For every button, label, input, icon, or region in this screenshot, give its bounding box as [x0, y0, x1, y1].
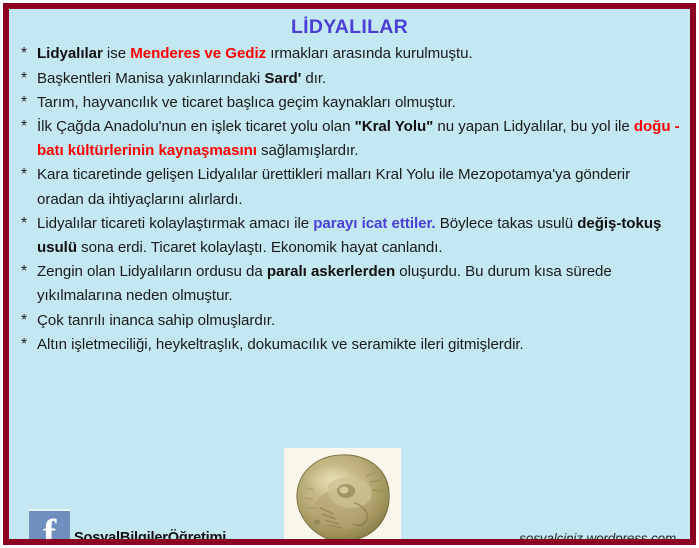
- list-item-text: Zengin olan Lidyalıların ordusu da: [37, 263, 267, 280]
- poster-inner: LİDYALILAR *Lidyalılar ise Menderes ve G…: [9, 17, 690, 545]
- lydian-coin-svg: [284, 448, 401, 545]
- list-item-text: sağlamışlardır.: [257, 142, 359, 159]
- bullet-marker-icon: *: [21, 67, 27, 91]
- site-watermark: sosyalciniz.wordpress.com: [519, 531, 676, 545]
- bullet-marker-icon: *: [21, 42, 27, 66]
- list-item-text: Altın işletmeciliği, heykeltraşlık, doku…: [37, 336, 524, 353]
- list-item-text: Kara ticaretinde gelişen Lidyalılar üret…: [37, 166, 630, 207]
- list-item-text: Lidyalılar: [37, 45, 103, 62]
- list-item-text: İlk Çağda Anadolu'nun en işlek ticaret y…: [37, 118, 355, 135]
- lydian-coin-image: [284, 448, 401, 545]
- list-item-text: ırmakları arasında kurulmuştu.: [266, 45, 472, 62]
- list-item: *Tarım, hayvancılık ve ticaret başlıca g…: [21, 91, 680, 115]
- list-item: *Kara ticaretinde gelişen Lidyalılar üre…: [21, 163, 680, 211]
- list-item-text: Başkentleri Manisa yakınlarındaki: [37, 70, 264, 87]
- list-item: *Başkentleri Manisa yakınlarındaki Sard'…: [21, 67, 680, 91]
- page-title: LİDYALILAR: [9, 17, 690, 38]
- list-item-text: Çok tanrılı inanca sahip olmuşlardır.: [37, 312, 275, 329]
- facebook-f-glyph: f: [29, 511, 70, 545]
- list-item-text: nu yapan Lidyalılar, bu yol ile: [433, 118, 634, 135]
- list-item: *Lidyalılar ticareti kolaylaştırmak amac…: [21, 212, 680, 260]
- list-item-text: "Kral Yolu": [355, 118, 434, 135]
- bullet-marker-icon: *: [21, 115, 27, 139]
- list-item-text: sona erdi. Ticaret kolaylaştı. Ekonomik …: [77, 239, 443, 256]
- list-item-text: ise: [103, 45, 130, 62]
- facebook-icon[interactable]: f: [29, 509, 70, 545]
- list-item-text: Tarım, hayvancılık ve ticaret başlıca ge…: [37, 94, 456, 111]
- bullet-marker-icon: *: [21, 333, 27, 357]
- bullet-marker-icon: *: [21, 309, 27, 333]
- list-item-text: Menderes ve Gediz: [130, 45, 266, 62]
- bullet-marker-icon: *: [21, 91, 27, 115]
- list-item-text: Böylece takas usulü: [436, 215, 578, 232]
- list-item: *Zengin olan Lidyalıların ordusu da para…: [21, 260, 680, 308]
- bullet-marker-icon: *: [21, 212, 27, 236]
- bullet-marker-icon: *: [21, 163, 27, 187]
- list-item-text: parayı icat ettiler.: [313, 215, 435, 232]
- poster-card: LİDYALILAR *Lidyalılar ise Menderes ve G…: [3, 3, 696, 545]
- list-item-text: Sard': [264, 70, 301, 87]
- bullet-list: *Lidyalılar ise Menderes ve Gediz ırmakl…: [9, 42, 690, 357]
- list-item: *Çok tanrılı inanca sahip olmuşlardır.: [21, 309, 680, 333]
- list-item: *Altın işletmeciliği, heykeltraşlık, dok…: [21, 333, 680, 357]
- list-item-text: paralı askerlerden: [267, 263, 395, 280]
- list-item: *Lidyalılar ise Menderes ve Gediz ırmakl…: [21, 42, 680, 66]
- list-item-text: dır.: [301, 70, 326, 87]
- list-item: *İlk Çağda Anadolu'nun en işlek ticaret …: [21, 115, 680, 163]
- bullet-marker-icon: *: [21, 260, 27, 284]
- facebook-page-label: SosyalBilgilerÖğretimi: [74, 530, 226, 545]
- list-item-text: Lidyalılar ticareti kolaylaştırmak amacı…: [37, 215, 313, 232]
